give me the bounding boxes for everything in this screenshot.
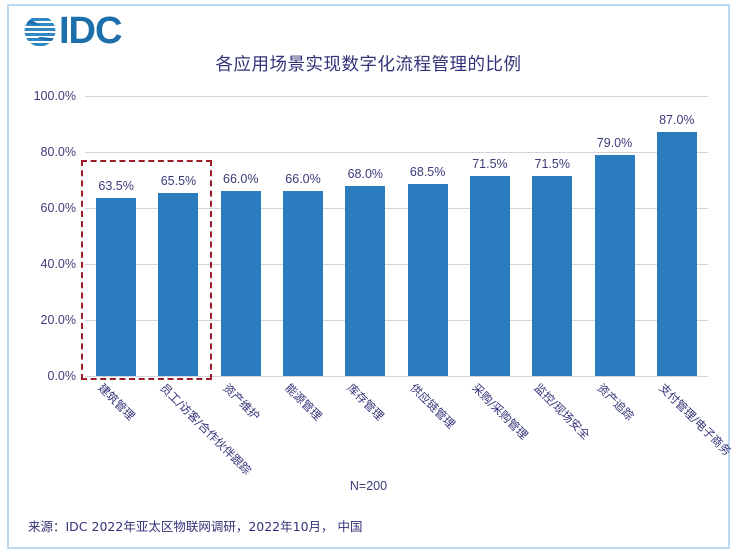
bar-group[interactable]: 65.5%: [147, 96, 209, 376]
bar-value-label: 68.5%: [410, 165, 445, 179]
logo-wordmark: IDC: [59, 13, 121, 49]
bar[interactable]: [158, 193, 198, 376]
bar-group[interactable]: 66.0%: [210, 96, 272, 376]
bar[interactable]: [408, 184, 448, 376]
bar-series: 63.5%65.5%66.0%66.0%68.0%68.5%71.5%71.5%…: [85, 96, 708, 376]
x-axis-tick-label: 能源管理: [282, 380, 326, 424]
x-axis-tick-label: 供应链管理: [406, 380, 458, 432]
bar[interactable]: [657, 132, 697, 376]
bar-group[interactable]: 87.0%: [646, 96, 708, 376]
bar-value-label: 71.5%: [535, 157, 570, 171]
bar-group[interactable]: 68.5%: [397, 96, 459, 376]
sample-size-note: N=200: [0, 479, 737, 493]
y-axis-tick-label: 100.0%: [34, 89, 76, 103]
bar-value-label: 66.0%: [285, 172, 320, 186]
bar-group[interactable]: 66.0%: [272, 96, 334, 376]
y-axis-tick-label: 20.0%: [41, 313, 76, 327]
bar-value-label: 66.0%: [223, 172, 258, 186]
bar[interactable]: [470, 176, 510, 376]
y-axis-tick-label: 80.0%: [41, 145, 76, 159]
bar-value-label: 63.5%: [98, 179, 133, 193]
x-axis-tick-label: 采购/采购管理: [469, 380, 532, 443]
bar-group[interactable]: 71.5%: [521, 96, 583, 376]
idc-logo: IDC: [22, 11, 121, 51]
globe-icon: [22, 13, 58, 49]
y-axis: 100.0%80.0%60.0%40.0%20.0%0.0%: [0, 96, 80, 376]
x-axis-tick-label: 支付管理/电子商务: [656, 380, 735, 459]
bar[interactable]: [595, 155, 635, 376]
x-axis-categories: 建筑管理员工/访客/合作伙伴跟踪资产维护能源管理库存管理供应链管理采购/采购管理…: [85, 378, 708, 478]
chart-title: 各应用场景实现数字化流程管理的比例: [0, 51, 737, 76]
x-axis-tick-label: 资产追踪: [593, 380, 637, 424]
bar-value-label: 68.0%: [348, 167, 383, 181]
x-axis-tick-label: 监控/现场安全: [531, 380, 594, 443]
x-axis-tick-label: 建筑管理: [95, 380, 139, 424]
x-axis-tick-label: 库存管理: [344, 380, 388, 424]
bar-value-label: 79.0%: [597, 136, 632, 150]
bar-value-label: 87.0%: [659, 113, 694, 127]
source-note: 来源：IDC 2022年亚太区物联网调研，2022年10月， 中国: [28, 516, 363, 535]
bar-value-label: 65.5%: [161, 174, 196, 188]
bar-group[interactable]: 68.0%: [334, 96, 396, 376]
bar[interactable]: [96, 198, 136, 376]
x-axis-tick-label: 资产维护: [219, 380, 263, 424]
bar[interactable]: [345, 186, 385, 376]
bar-group[interactable]: 71.5%: [459, 96, 521, 376]
y-axis-tick-label: 40.0%: [41, 257, 76, 271]
plot-area: 63.5%65.5%66.0%66.0%68.0%68.5%71.5%71.5%…: [85, 96, 708, 376]
bar[interactable]: [221, 191, 261, 376]
slide-canvas: IDC 各应用场景实现数字化流程管理的比例 100.0%80.0%60.0%40…: [0, 0, 737, 553]
bar-group[interactable]: 79.0%: [583, 96, 645, 376]
bar[interactable]: [532, 176, 572, 376]
bar-group[interactable]: 63.5%: [85, 96, 147, 376]
y-axis-tick-label: 0.0%: [48, 369, 77, 383]
bar-value-label: 71.5%: [472, 157, 507, 171]
y-axis-tick-label: 60.0%: [41, 201, 76, 215]
gridline: [85, 376, 708, 377]
bar[interactable]: [283, 191, 323, 376]
